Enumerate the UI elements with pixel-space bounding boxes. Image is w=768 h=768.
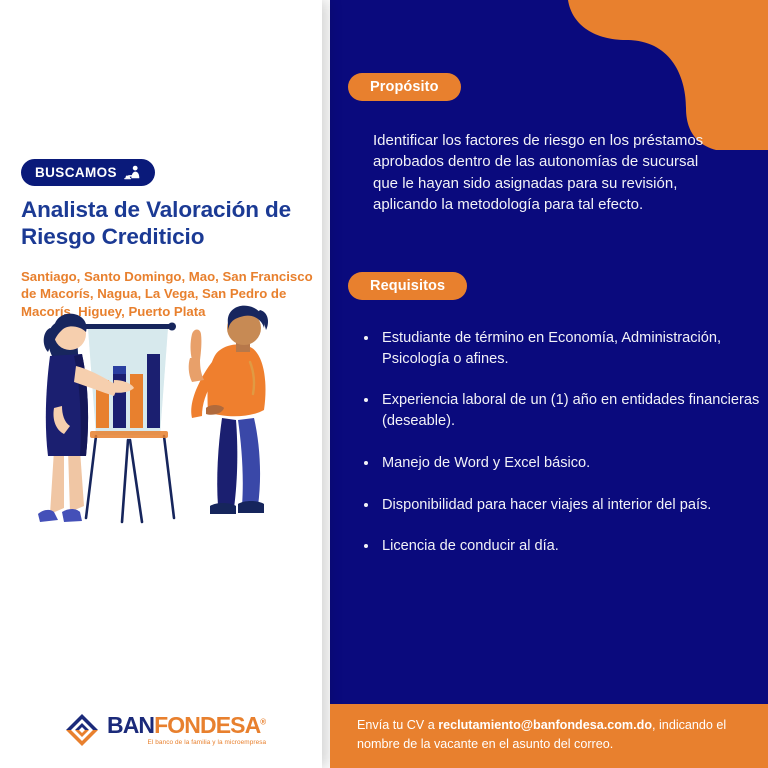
buscamos-badge: BUSCAMOS — [21, 159, 155, 186]
right-content-panel: Propósito Identificar los factores de ri… — [330, 0, 768, 768]
requirement-text: Manejo de Word y Excel básico. — [382, 455, 590, 471]
registered-trademark-icon: ® — [260, 717, 266, 726]
logo-word-ban: BAN — [107, 712, 154, 738]
logo-wordmark: BANFONDESA® — [107, 714, 266, 737]
page-title: Analista de Valoración de Riesgo Crediti… — [21, 196, 306, 250]
listener-man — [189, 306, 268, 514]
logo-tagline: El banco de la familia y la microempresa — [107, 740, 266, 746]
job-posting-poster: Propósito Identificar los factores de ri… — [0, 0, 768, 768]
logo-word-fondesa: FONDESA — [154, 712, 260, 738]
requirement-text: Disponibilidad para hacer viajes al inte… — [382, 497, 711, 513]
worker-at-desk-icon — [124, 165, 141, 180]
buscamos-label: BUSCAMOS — [35, 166, 117, 180]
list-item: Manejo de Word y Excel básico. — [360, 453, 760, 474]
left-info-card: BUSCAMOS Analista de Valoración de Riesg… — [0, 0, 322, 768]
banfondesa-diamond-icon — [64, 712, 100, 748]
requirements-section-pill: Requisitos — [348, 272, 467, 300]
list-item: Disponibilidad para hacer viajes al inte… — [360, 495, 760, 516]
requirements-list: Estudiante de término en Economía, Admin… — [360, 328, 760, 557]
bullet-icon — [364, 544, 368, 548]
footer-lead-text: Envía tu CV a — [357, 718, 438, 732]
bullet-icon — [364, 336, 368, 340]
list-item: Licencia de conducir al día. — [360, 536, 760, 557]
footer-instruction-text: Envía tu CV a reclutamiento@banfondesa.c… — [357, 716, 747, 754]
orange-corner-blob-decoration — [568, 0, 768, 150]
bullet-icon — [364, 503, 368, 507]
list-item: Experiencia laboral de un (1) año en ent… — [360, 390, 760, 431]
contact-footer-bar: Envía tu CV a reclutamiento@banfondesa.c… — [330, 704, 768, 768]
requirement-text: Estudiante de término en Economía, Admin… — [382, 330, 721, 367]
recruitment-email-address[interactable]: reclutamiento@banfondesa.com.do — [438, 718, 652, 732]
list-item: Estudiante de término en Economía, Admin… — [360, 328, 760, 369]
bullet-icon — [364, 398, 368, 402]
banfondesa-logo: BANFONDESA® El banco de la familia y la … — [64, 712, 266, 748]
purpose-section-pill: Propósito — [348, 73, 461, 101]
requirement-text: Experiencia laboral de un (1) año en ent… — [382, 392, 759, 429]
business-presentation-illustration — [24, 300, 306, 538]
requirement-text: Licencia de conducir al día. — [382, 538, 559, 554]
purpose-body-text: Identificar los factores de riesgo en lo… — [373, 130, 723, 216]
bullet-icon — [364, 461, 368, 465]
